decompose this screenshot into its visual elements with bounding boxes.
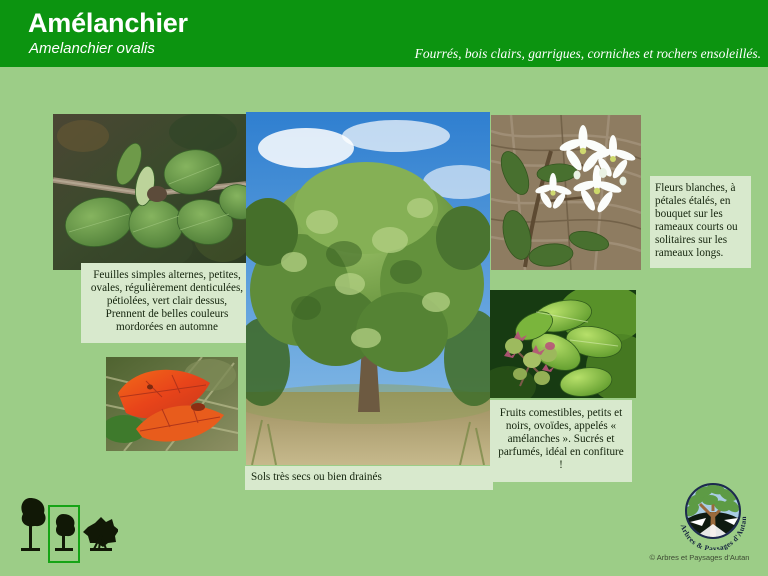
flowers-description-textbox: Fleurs blanches, à pétales étalés, en bo… (650, 176, 751, 268)
shrub-icon (83, 517, 118, 551)
selected-size-highlight (48, 505, 80, 563)
soil-description-textbox: Sols très secs ou bien drainés (245, 466, 493, 490)
photo-green-fruits (490, 290, 636, 398)
leaves-description-textbox: Feuilles simples alternes, petites, oval… (81, 263, 253, 343)
leaves-photo-artwork (53, 114, 246, 270)
flowers-photo-artwork (491, 115, 641, 270)
photo-white-flowers (491, 115, 641, 270)
whole-tree-photo-artwork (246, 112, 490, 465)
tree-size-indicator[interactable] (10, 495, 118, 563)
logo-artwork: Arbres & Paysages d'Autan (672, 478, 754, 550)
photo-autumn-leaf (106, 357, 238, 451)
habitat-tagline: Fourrés, bois clairs, garrigues, cornich… (415, 45, 761, 62)
fruits-photo-artwork (490, 290, 636, 398)
latin-name-subtitle: Amelanchier ovalis (29, 40, 155, 58)
header-banner: Amélanchier Amelanchier ovalis Fourrés, … (0, 0, 768, 67)
slide-root: Amélanchier Amelanchier ovalis Fourrés, … (0, 0, 768, 576)
photo-leaves-branch (53, 114, 246, 270)
autumn-leaf-photo-artwork (106, 357, 238, 451)
tall-tree-icon (21, 498, 46, 551)
photo-whole-tree (246, 112, 490, 465)
copyright-text: © Arbres et Paysages d'Autan (633, 553, 766, 562)
fruits-description-textbox: Fruits comestibles, petits et noirs, ovo… (490, 400, 632, 482)
page-title: Amélanchier (28, 8, 188, 38)
arbres-et-paysages-dautan-logo[interactable]: Arbres & Paysages d'Autan (672, 478, 754, 550)
